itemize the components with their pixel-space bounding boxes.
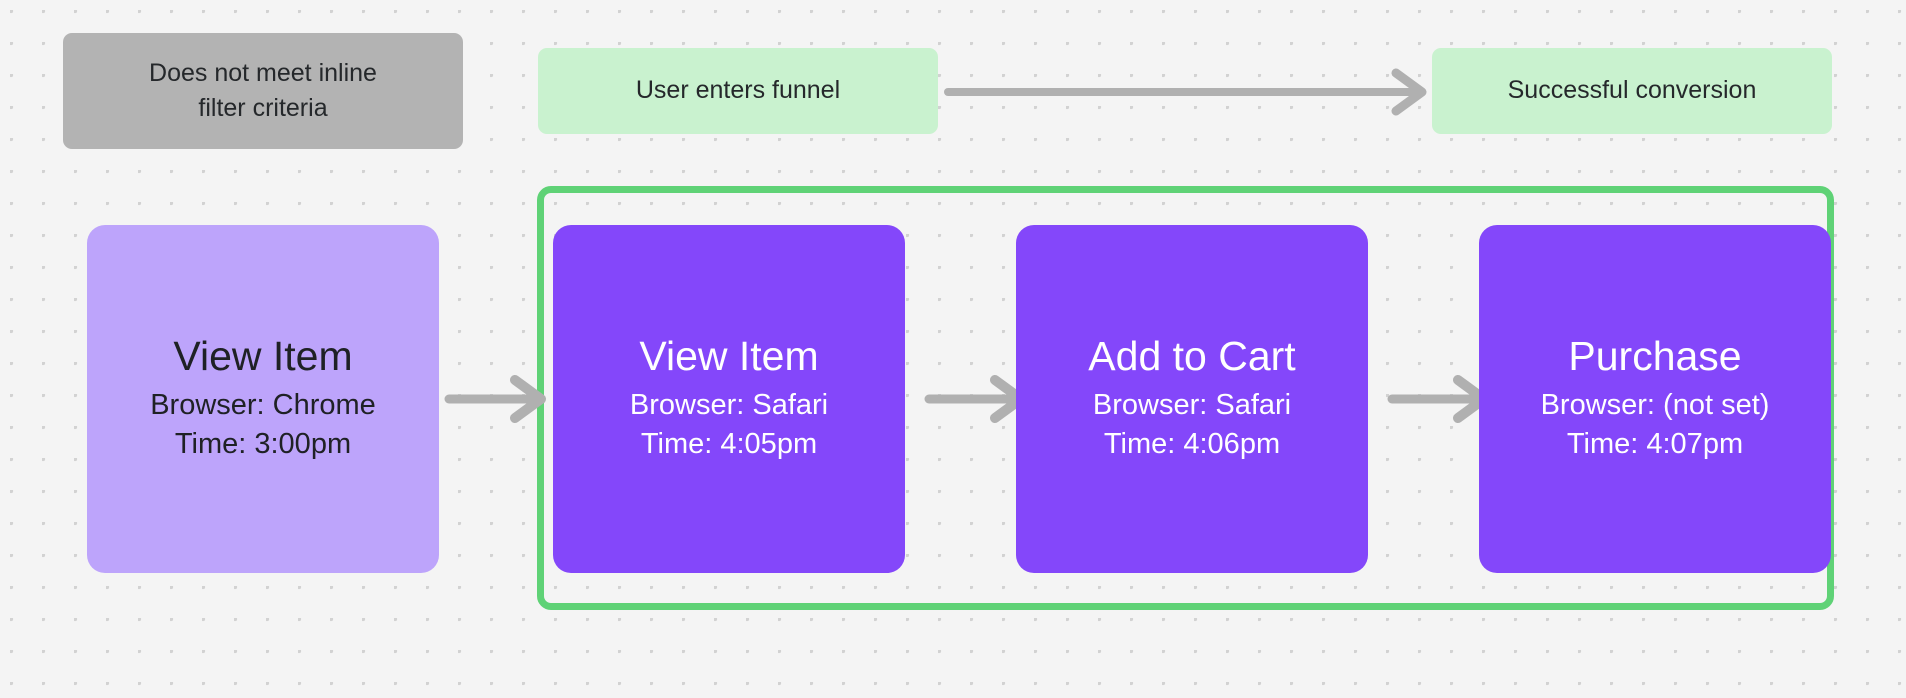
legend-entry-label: User enters funnel — [636, 73, 840, 109]
event-card-title: View Item — [639, 334, 818, 380]
legend-excluded-line1: Does not meet inline — [149, 56, 377, 92]
event-card-time: Time: 4:07pm — [1567, 425, 1743, 464]
event-card-time: Time: 4:05pm — [641, 425, 817, 464]
event-card-title: Purchase — [1568, 334, 1741, 380]
event-card-add-to-cart[interactable]: Add to Cart Browser: Safari Time: 4:06pm — [1016, 225, 1368, 573]
event-card-browser: Browser: Safari — [630, 386, 828, 425]
event-card-view-item-chrome[interactable]: View Item Browser: Chrome Time: 3:00pm — [87, 225, 439, 573]
event-card-purchase[interactable]: Purchase Browser: (not set) Time: 4:07pm — [1479, 225, 1831, 573]
event-card-title: Add to Cart — [1088, 334, 1295, 380]
diagram-canvas: Does not meet inline filter criteria Use… — [0, 0, 1906, 698]
legend-entry-chip[interactable]: User enters funnel — [538, 48, 938, 134]
event-card-time: Time: 3:00pm — [175, 425, 351, 464]
event-card-time: Time: 4:06pm — [1104, 425, 1280, 464]
event-card-browser: Browser: Safari — [1093, 386, 1291, 425]
legend-excluded-chip[interactable]: Does not meet inline filter criteria — [63, 33, 463, 149]
event-card-browser: Browser: Chrome — [150, 386, 376, 425]
legend-connector-arrow-icon — [944, 72, 1438, 112]
legend-excluded-line2: filter criteria — [198, 91, 327, 127]
flow-arrow-1-icon — [445, 379, 555, 419]
legend-conversion-chip[interactable]: Successful conversion — [1432, 48, 1832, 134]
event-card-title: View Item — [173, 334, 352, 380]
event-card-browser: Browser: (not set) — [1541, 386, 1770, 425]
legend-conversion-label: Successful conversion — [1508, 73, 1757, 109]
event-card-view-item-safari[interactable]: View Item Browser: Safari Time: 4:05pm — [553, 225, 905, 573]
